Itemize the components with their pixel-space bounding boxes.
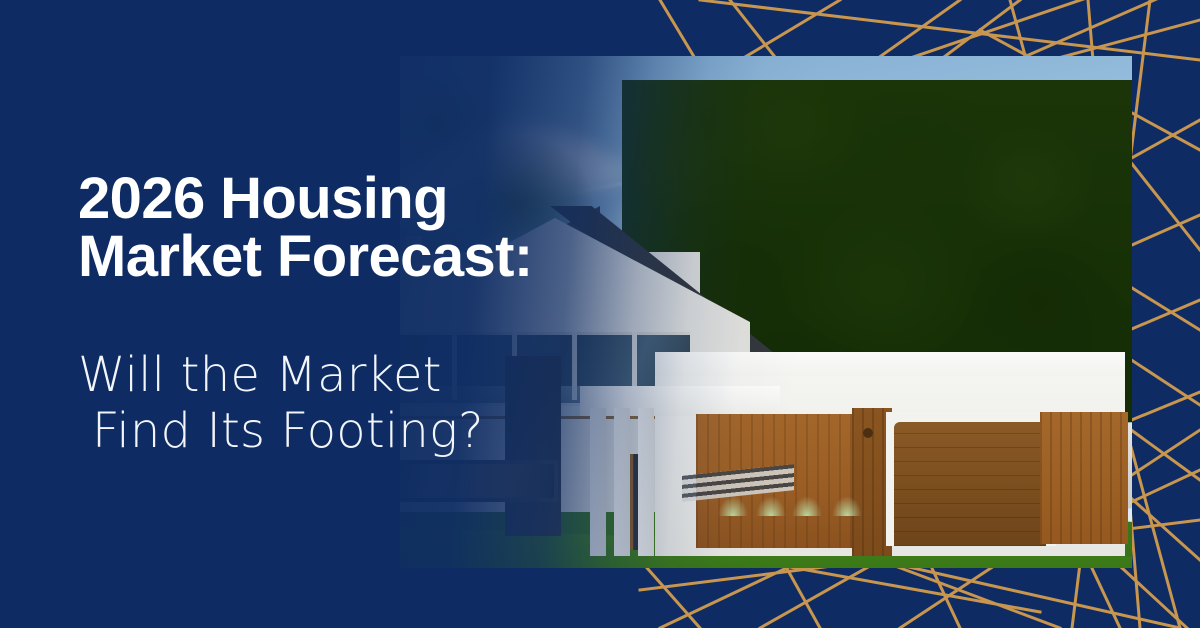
- ornamental-grass: [792, 496, 822, 516]
- headline-block: 2026 Housing Market Forecast: Will the M…: [78, 170, 638, 459]
- ornamental-grass: [756, 496, 786, 516]
- exterior-lamp: [863, 428, 873, 438]
- subheadline-line-1: Will the Market: [78, 347, 442, 403]
- page-subtitle: Will the Market Find Its Footing?: [78, 348, 638, 459]
- headline-line-2: Market Forecast:: [78, 228, 638, 286]
- canopy-pillar: [638, 408, 654, 556]
- marketing-banner: 2026 Housing Market Forecast: Will the M…: [0, 0, 1200, 628]
- lower-window: [400, 460, 558, 502]
- ornamental-grass: [718, 496, 748, 516]
- page-title: 2026 Housing Market Forecast:: [78, 170, 638, 286]
- wood-clad-wall-right: [1040, 412, 1128, 544]
- ornamental-grass: [832, 496, 862, 516]
- headline-line-1: 2026 Housing: [78, 166, 448, 231]
- garage-door: [894, 422, 1046, 546]
- subheadline-line-2: Find Its Footing?: [78, 404, 638, 460]
